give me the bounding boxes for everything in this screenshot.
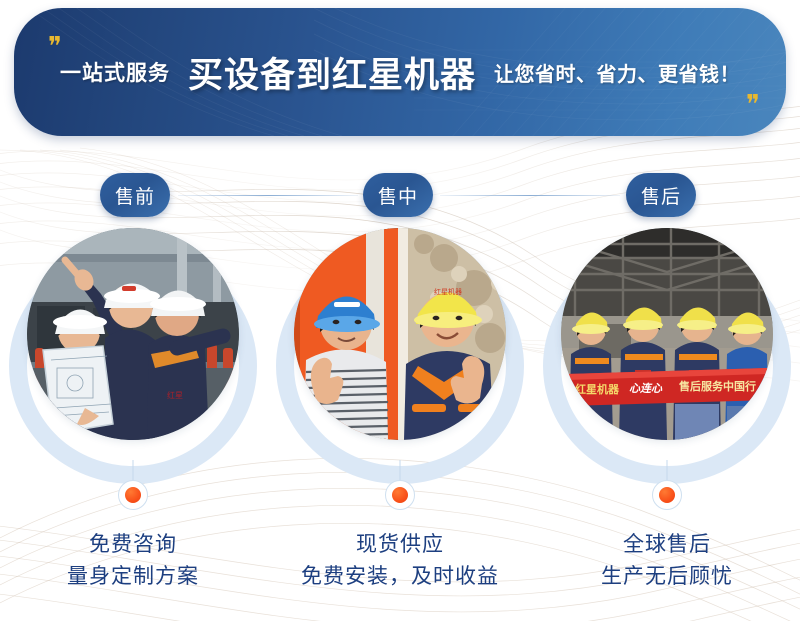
photo-engineers-reviewing-blueprint: 红星 红星 xyxy=(27,228,239,440)
photo-workers-thumbs-up: 红星机器 xyxy=(294,228,506,440)
svg-text:售后服务中国行: 售后服务中国行 xyxy=(678,379,756,393)
stage-connector-1 xyxy=(178,195,358,196)
stage-column-pre-sale: 红星 红星 xyxy=(0,228,266,621)
stage-badge-during-sale[interactable]: 售中 xyxy=(363,173,433,217)
svg-text:心连心: 心连心 xyxy=(629,382,663,395)
banner-text-group: 一站式服务 买设备到红星机器 让您省时、省力、更省钱！ xyxy=(14,8,786,136)
banner-main-title: 买设备到红星机器 xyxy=(188,47,476,98)
stage-caption-pre-sale: 免费咨询 量身定制方案 xyxy=(0,528,266,592)
stage-connector-2 xyxy=(440,195,620,196)
caption-line-1: 全球售后 xyxy=(534,528,800,560)
stage-caption-during-sale: 现货供应 免费安装，及时收益 xyxy=(267,528,533,592)
stage-column-after-sale: 红星机器 心连心 售后服务中国行 全球售后 生产无后顾忧 xyxy=(534,228,800,621)
caption-line-2: 生产无后顾忧 xyxy=(534,560,800,592)
stage-photo-after-sale: 红星机器 心连心 售后服务中国行 xyxy=(561,228,773,440)
dot-core-icon xyxy=(659,487,675,503)
stage-badge-after-sale[interactable]: 售后 xyxy=(626,173,696,217)
stage-photo-pre-sale: 红星 红星 xyxy=(27,228,239,440)
banner-shape: ❞ ❞ 一站式服务 买设备到红星机器 让您省时、省力、更省钱！ xyxy=(14,8,786,136)
caption-line-2: 免费安装，及时收益 xyxy=(267,560,533,592)
banner-pre-text: 一站式服务 xyxy=(60,57,170,87)
stage-badge-pre-sale[interactable]: 售前 xyxy=(100,173,170,217)
stage-photo-during-sale: 红星机器 xyxy=(294,228,506,440)
promo-banner-page: ❞ ❞ 一站式服务 买设备到红星机器 让您省时、省力、更省钱！ 售前 售中 售后 xyxy=(0,0,800,621)
caption-line-2: 量身定制方案 xyxy=(0,560,266,592)
banner-post-text: 让您省时、省力、更省钱！ xyxy=(494,58,740,87)
svg-text:红星机器: 红星机器 xyxy=(575,382,620,396)
svg-text:红星: 红星 xyxy=(167,390,183,400)
stage-badge-label: 售前 xyxy=(115,182,155,209)
photo-service-team-with-banner: 红星机器 心连心 售后服务中国行 xyxy=(561,228,773,440)
dot-core-icon xyxy=(125,487,141,503)
stage-dot-marker xyxy=(118,480,148,510)
stage-caption-after-sale: 全球售后 生产无后顾忧 xyxy=(534,528,800,592)
stage-dot-marker xyxy=(385,480,415,510)
stage-column-during-sale: 红星机器 现货供应 免费安装，及时收益 xyxy=(267,228,533,621)
caption-line-1: 现货供应 xyxy=(267,528,533,560)
stage-badge-label: 售后 xyxy=(641,182,681,209)
caption-line-1: 免费咨询 xyxy=(0,528,266,560)
stage-badge-label: 售中 xyxy=(378,182,418,209)
svg-text:红星机器: 红星机器 xyxy=(434,287,462,296)
header-banner: ❞ ❞ 一站式服务 买设备到红星机器 让您省时、省力、更省钱！ xyxy=(14,8,786,136)
dot-core-icon xyxy=(392,487,408,503)
stage-dot-marker xyxy=(652,480,682,510)
